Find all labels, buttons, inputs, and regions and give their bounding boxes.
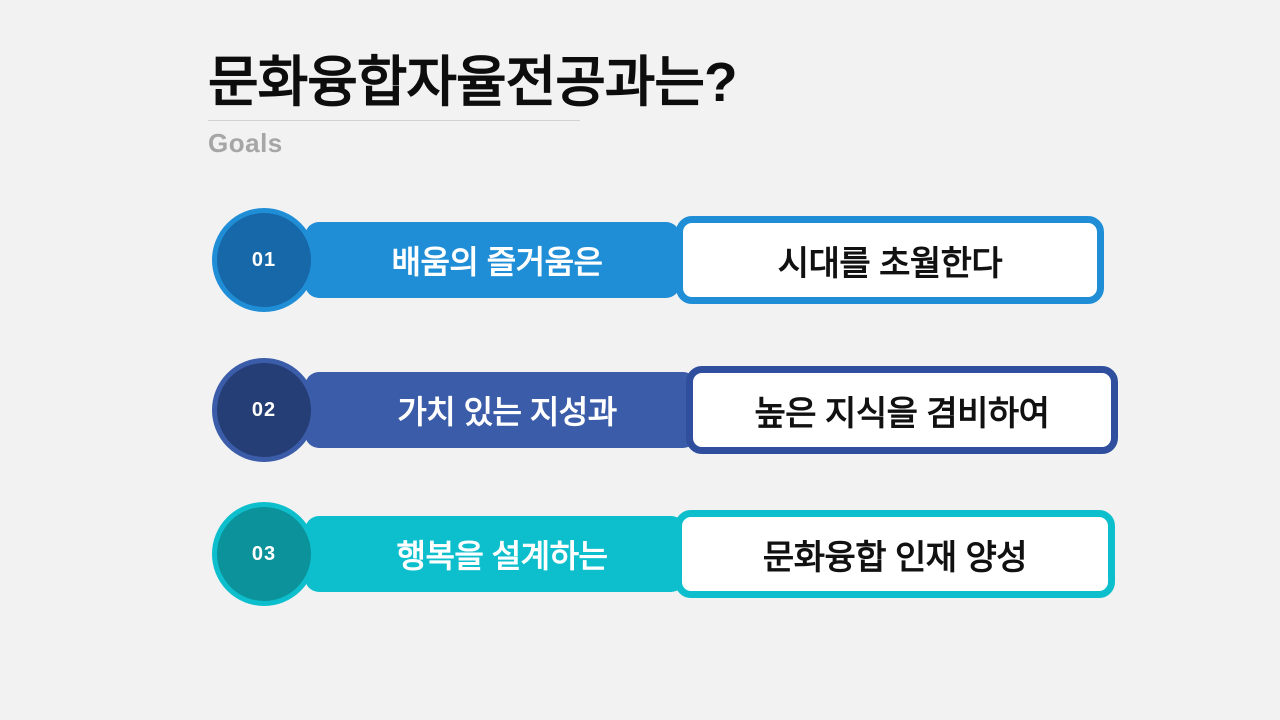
goal-card: 높은 지식을 겸비하여 xyxy=(686,366,1118,454)
goal-number: 03 xyxy=(252,543,276,566)
goal-number-badge: 01 xyxy=(212,208,316,312)
goal-number-badge: 02 xyxy=(212,358,316,462)
goal-number: 01 xyxy=(252,249,276,272)
goal-label: 행복을 설계하는 xyxy=(332,516,672,592)
goal-card: 시대를 초월한다 xyxy=(676,216,1104,304)
goals-list: 01 배움의 즐거움은 시대를 초월한다 02 가치 있는 지성과 높은 지식을… xyxy=(0,0,1280,720)
goal-number: 02 xyxy=(252,399,276,422)
goal-label: 배움의 즐거움은 xyxy=(332,222,662,298)
goal-label: 가치 있는 지성과 xyxy=(332,372,682,448)
goal-card: 문화융합 인재 양성 xyxy=(675,510,1115,598)
goal-number-badge: 03 xyxy=(212,502,316,606)
